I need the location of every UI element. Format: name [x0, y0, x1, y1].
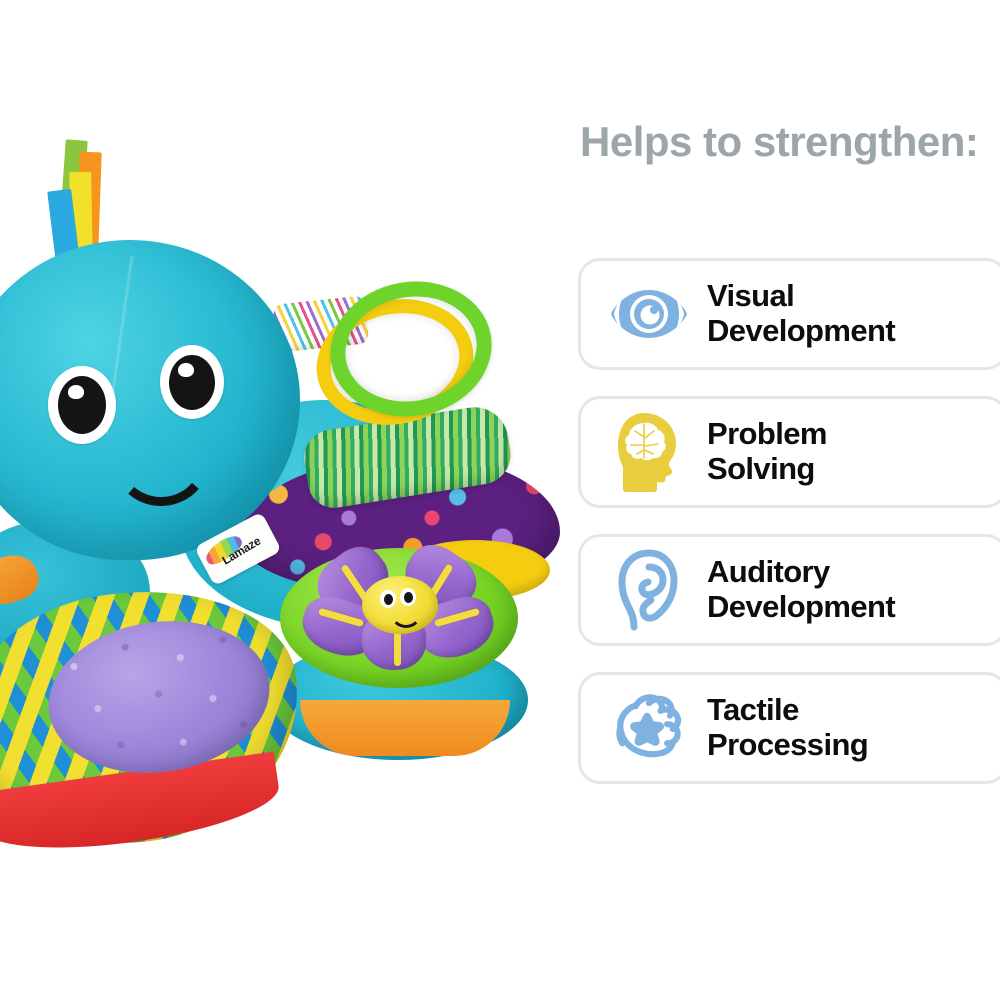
eye-icon — [607, 272, 691, 356]
hand-touch-icon — [607, 686, 691, 770]
ear-icon — [607, 548, 691, 632]
octopus-eye-highlight-left — [68, 385, 84, 399]
benefit-label: Tactile Processing — [707, 693, 868, 762]
starfish-pupil-right — [404, 592, 413, 603]
product-photo: Lamaze — [0, 0, 560, 1000]
benefits-panel: Helps to strengthen: Visual Development — [560, 0, 1000, 1000]
starfish-rattle — [300, 548, 500, 670]
starfish-disc-trim — [300, 700, 510, 756]
octopus-pupil-left — [58, 376, 106, 434]
octopus-eye-highlight-right — [178, 363, 194, 377]
benefit-card-auditory-development: Auditory Development — [578, 534, 1000, 646]
benefit-card-visual-development: Visual Development — [578, 258, 1000, 370]
starfish-pupil-left — [384, 594, 393, 605]
benefits-list: Visual Development Problem Solving — [578, 258, 1000, 810]
benefit-label: Problem Solving — [707, 417, 827, 486]
head-brain-icon — [607, 410, 691, 494]
benefit-label: Visual Development — [707, 279, 895, 348]
benefit-card-problem-solving: Problem Solving — [578, 396, 1000, 508]
octopus-pupil-right — [169, 355, 215, 410]
benefit-card-tactile-processing: Tactile Processing — [578, 672, 1000, 784]
panel-heading: Helps to strengthen: — [580, 118, 980, 165]
benefit-label: Auditory Development — [707, 555, 895, 624]
